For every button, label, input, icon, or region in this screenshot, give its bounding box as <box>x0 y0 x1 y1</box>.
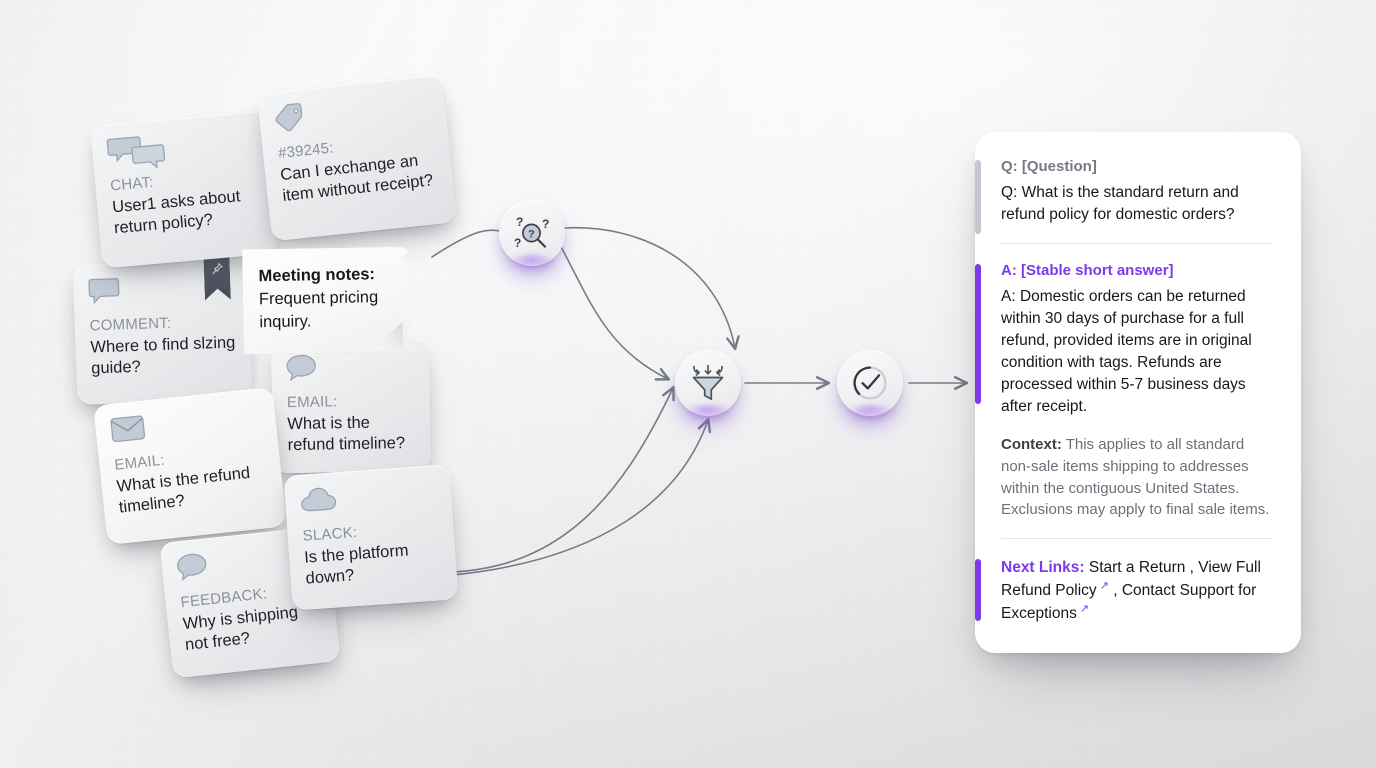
source-card-ticket[interactable]: #39245: Can I exchange an item without r… <box>257 75 457 242</box>
magnifier-questions-icon: ? ? ? ? <box>510 213 554 253</box>
links-accent-bar <box>975 559 981 621</box>
source-card-chat[interactable]: CHAT: User1 asks about return policy? <box>90 111 280 269</box>
edge-cards-to-detect <box>432 230 500 257</box>
edge-bottom-to-funnel-a <box>453 388 673 572</box>
svg-text:?: ? <box>542 217 549 231</box>
pipeline-node-validated[interactable] <box>837 350 903 416</box>
answer-answer-section: A: [Stable short answer] A: Domestic ord… <box>1001 262 1273 521</box>
source-card-label: EMAIL: <box>287 392 415 413</box>
link-separator: , <box>1185 559 1194 576</box>
divider-question-answer <box>1001 243 1273 244</box>
edge-detect-to-funnel-inner <box>560 245 668 379</box>
answer-context: Context: This applies to all standard no… <box>1001 434 1273 521</box>
comment-bubble-icon <box>286 352 415 388</box>
answer-text: A: Domestic orders can be returned withi… <box>1001 286 1273 418</box>
diagram-canvas: COMMENT: Where to find slzing guide? CHA… <box>0 0 1376 768</box>
cloud-icon <box>299 478 437 521</box>
question-accent-bar <box>975 160 981 234</box>
next-links: Next Links: Start a Return , View Full R… <box>1001 557 1273 625</box>
chat-bubbles-icon <box>106 125 256 172</box>
funnel-icon <box>687 363 729 403</box>
source-card-email-primary[interactable]: EMAIL: What is the refund timeline? <box>93 387 287 545</box>
question-heading: Q: [Question] <box>1001 158 1273 175</box>
check-circle-icon <box>849 362 891 404</box>
svg-text:?: ? <box>528 229 535 241</box>
answer-links-section: Next Links: Start a Return , View Full R… <box>1001 557 1273 625</box>
answer-accent-bar <box>975 264 981 404</box>
meeting-note-body: Frequent pricing inquiry. <box>259 288 379 331</box>
source-card-comment[interactable]: COMMENT: Where to find slzing guide? <box>73 259 253 405</box>
source-card-email-secondary[interactable]: EMAIL: What is the refund timeline? <box>271 339 431 474</box>
pipeline-node-detect[interactable]: ? ? ? ? <box>499 200 565 266</box>
source-card-slack[interactable]: SLACK: Is the platform down? <box>283 464 458 610</box>
svg-text:?: ? <box>514 236 521 250</box>
source-card-text: Where to find slzing guide? <box>90 332 236 380</box>
meeting-note-title: Meeting notes: <box>258 265 375 285</box>
pipeline-node-cluster[interactable] <box>675 350 741 416</box>
next-links-label: Next Links: <box>1001 559 1085 576</box>
source-card-text: Is the platform down? <box>304 538 443 590</box>
answer-card[interactable]: Q: [Question] Q: What is the standard re… <box>975 132 1301 653</box>
svg-text:?: ? <box>516 215 523 229</box>
question-text: Q: What is the standard return and refun… <box>1001 182 1273 226</box>
source-card-text: What is the refund timeline? <box>287 412 416 457</box>
external-link-icon: ↗ <box>1097 580 1109 592</box>
meeting-note-text: Meeting notes: Frequent pricing inquiry. <box>258 263 385 333</box>
answer-heading: A: [Stable short answer] <box>1001 262 1273 279</box>
answer-question-section: Q: [Question] Q: What is the standard re… <box>1001 158 1273 226</box>
link-separator: , <box>1109 582 1118 599</box>
context-label: Context: <box>1001 436 1062 453</box>
next-link-1[interactable]: Start a Return <box>1089 559 1186 576</box>
divider-answer-links <box>1001 538 1273 539</box>
edge-detect-to-funnel-outer <box>565 228 735 348</box>
external-link-icon: ↗ <box>1077 603 1089 615</box>
edge-bottom-to-funnel-b <box>453 420 708 575</box>
